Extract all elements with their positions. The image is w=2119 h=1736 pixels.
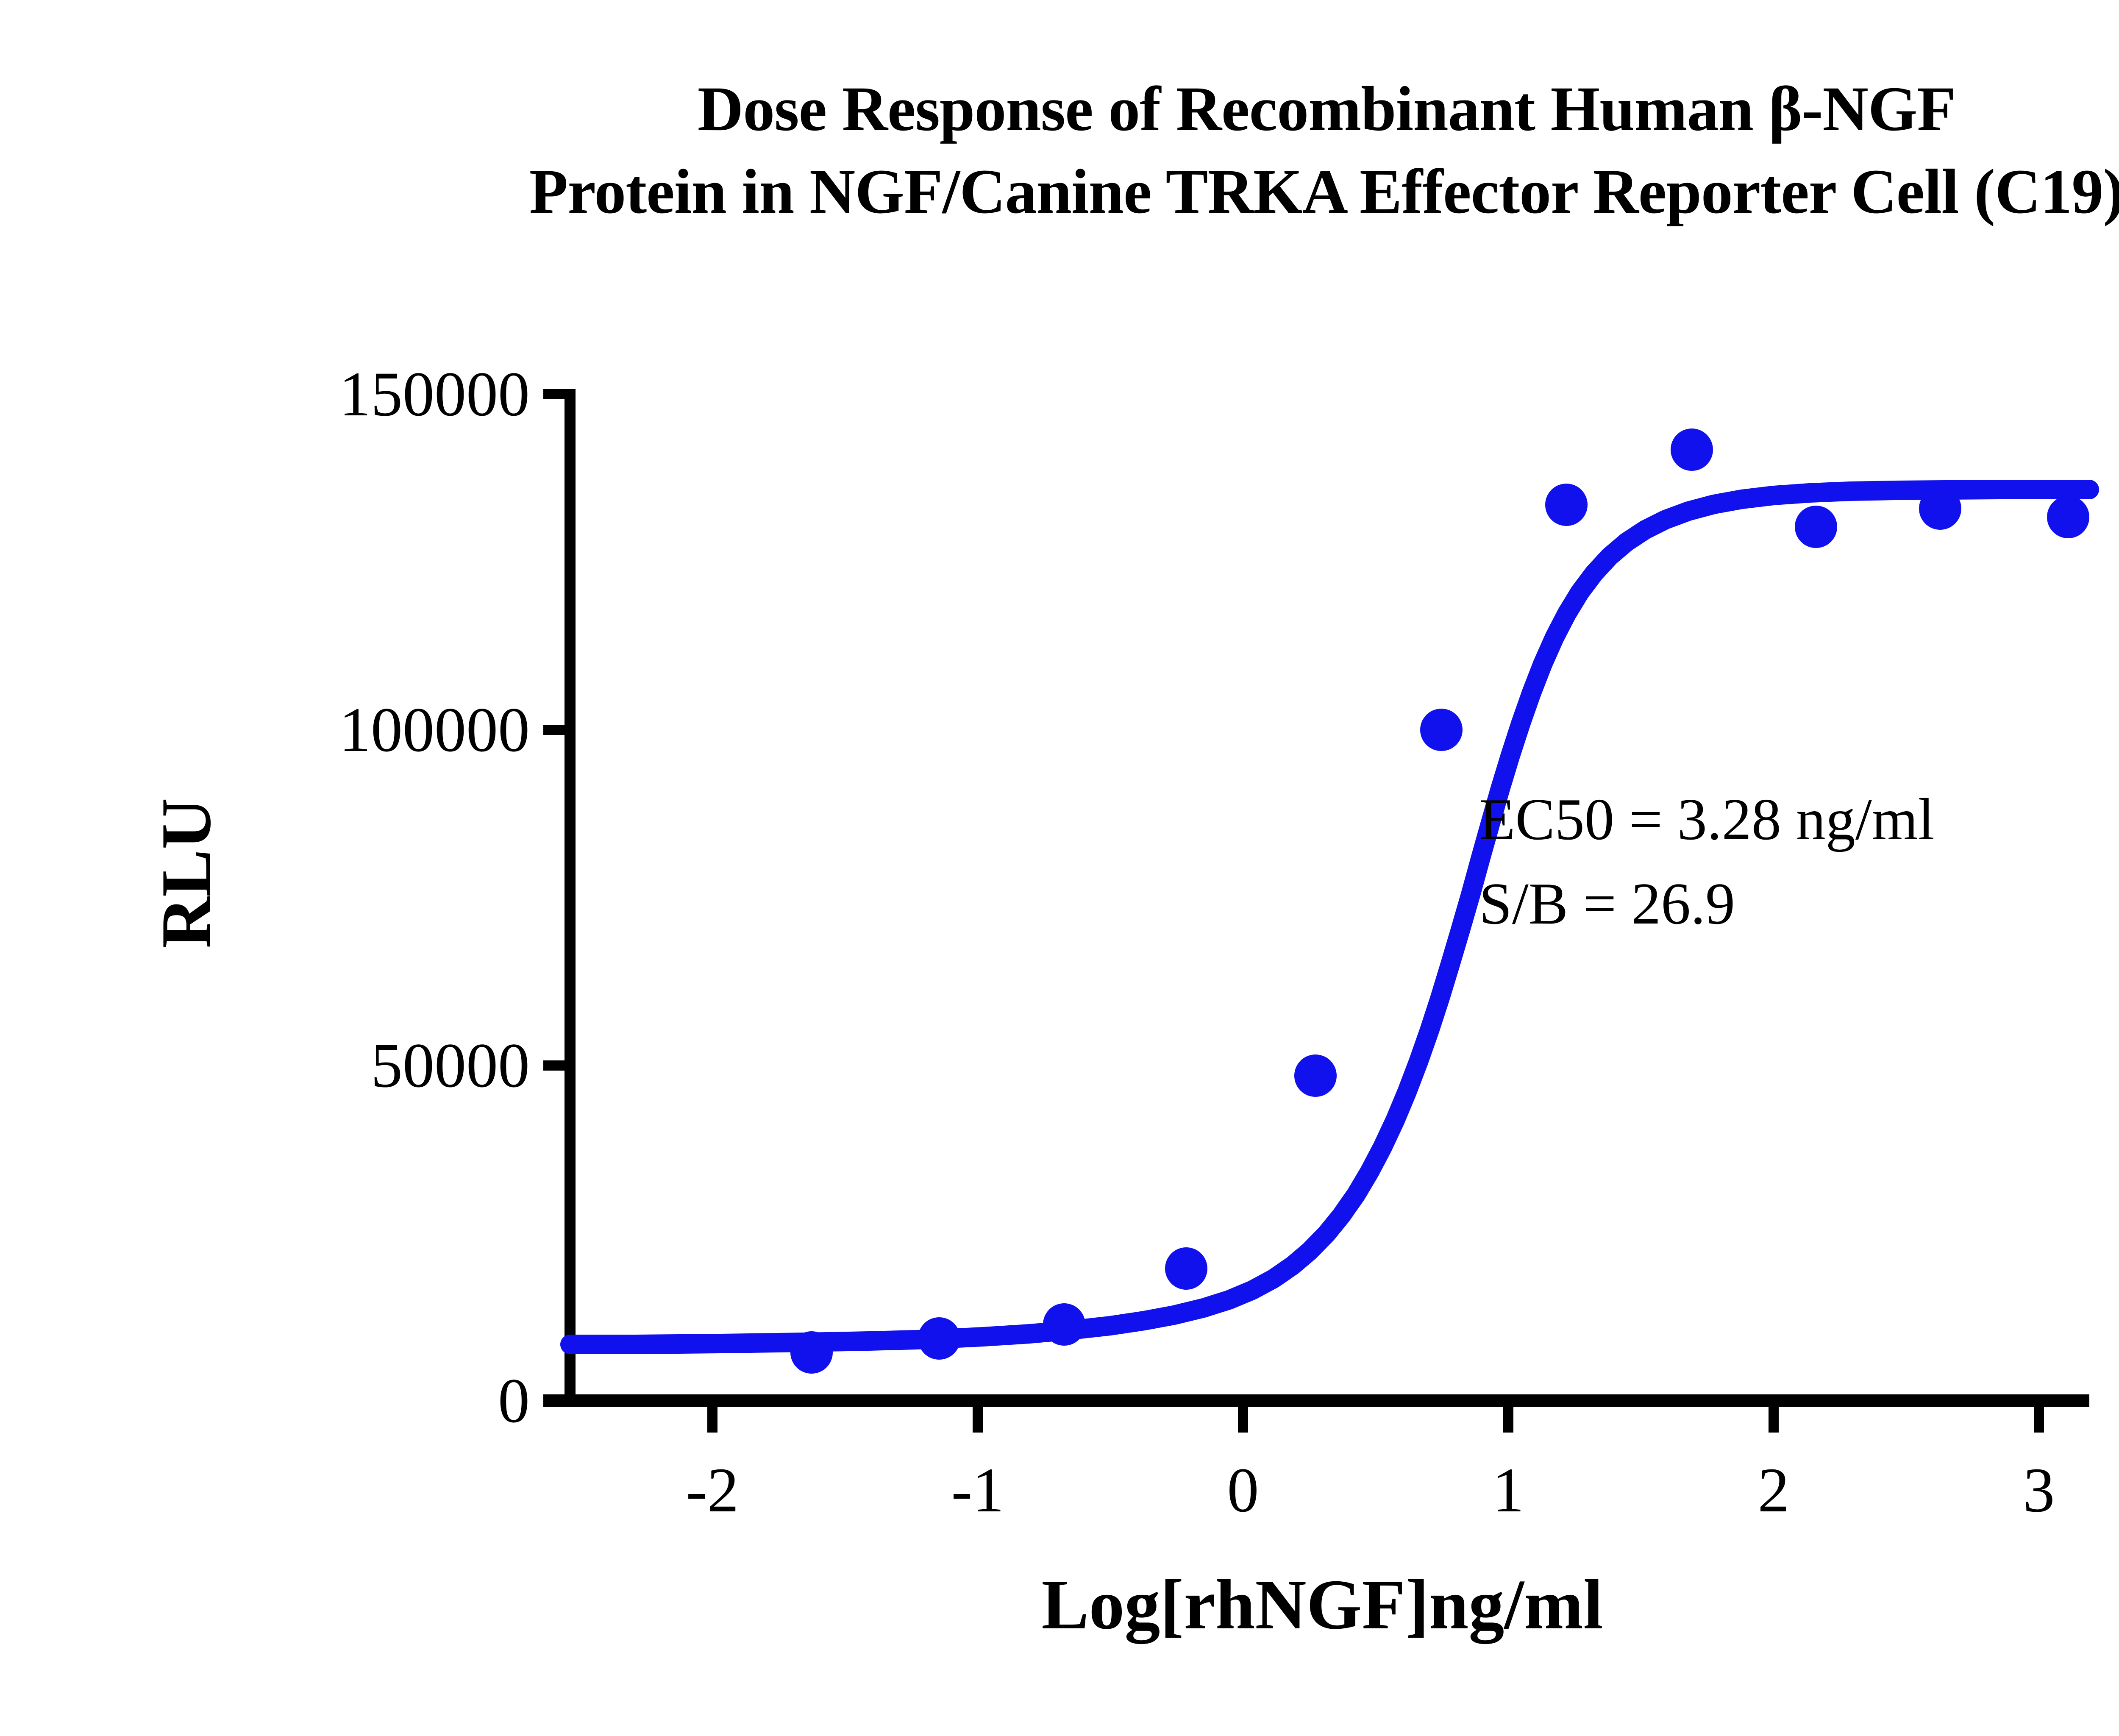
- y-tick-label-150000: 150000: [85, 358, 530, 431]
- annotation-signal-to-background: S/B = 26.9: [1479, 862, 1935, 946]
- x-tick-label-2: 2: [1758, 1454, 1790, 1527]
- data-point: [1043, 1303, 1085, 1346]
- x-axis-title: Log[rhNGF]ng/ml: [1041, 1564, 1603, 1646]
- data-point: [1795, 506, 1837, 548]
- data-point: [1294, 1054, 1337, 1097]
- x-tick-label-minus1: -1: [951, 1454, 1004, 1527]
- data-point: [1165, 1247, 1207, 1290]
- data-point: [2047, 496, 2089, 538]
- y-tick-label-50000: 50000: [85, 1029, 530, 1102]
- x-tick-label-3: 3: [2023, 1454, 2055, 1527]
- data-point: [1420, 709, 1463, 751]
- x-tick-label-minus2: -2: [686, 1454, 739, 1527]
- x-tick-label-0: 0: [1227, 1454, 1259, 1527]
- y-tick-label-100000: 100000: [85, 693, 530, 766]
- data-point: [1545, 484, 1588, 526]
- figure-canvas: Dose Response of Recombinant Human β-NGF…: [0, 0, 2119, 1736]
- data-point: [918, 1317, 960, 1360]
- data-point: [1671, 428, 1713, 471]
- fit-annotation: EC50 = 3.28 ng/ml S/B = 26.9: [1479, 778, 1935, 946]
- x-tick-label-1: 1: [1493, 1454, 1524, 1527]
- plot-area: 150000 100000 50000 0 -2 -1 0 1 2 3 Log[…: [0, 0, 2119, 1736]
- data-point: [790, 1331, 833, 1374]
- annotation-ec50: EC50 = 3.28 ng/ml: [1479, 778, 1935, 862]
- y-tick-label-0: 0: [85, 1364, 530, 1437]
- y-axis-title: RLU: [146, 798, 228, 949]
- data-point: [1919, 487, 1961, 530]
